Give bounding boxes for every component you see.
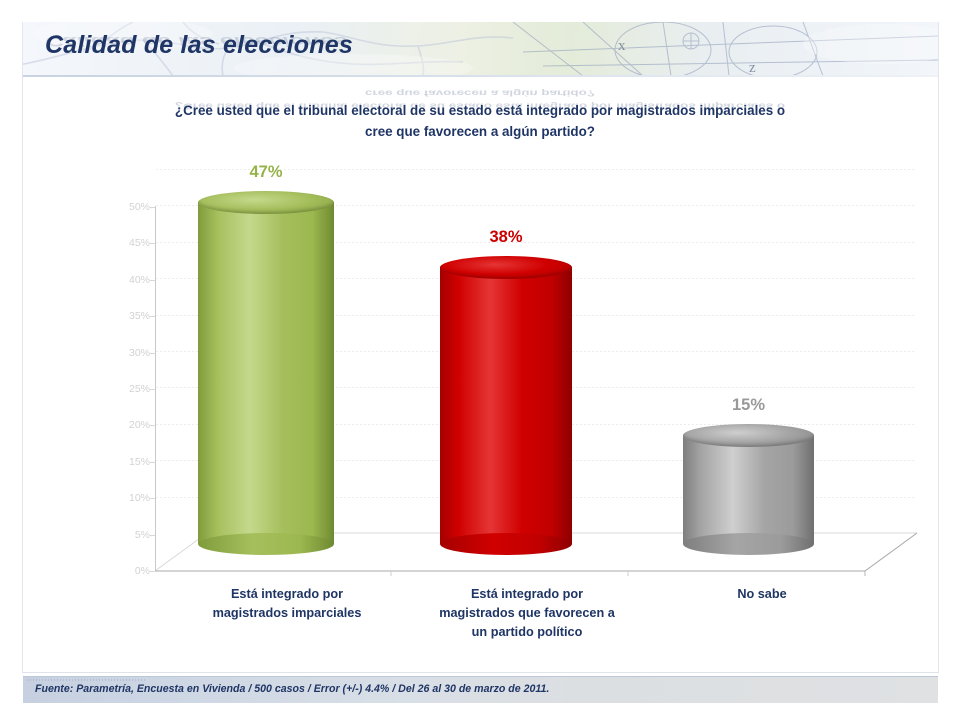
x-axis-category-label: Está integrado pormagistrados que favore… [407, 585, 647, 642]
category-label-line: Está integrado por [177, 585, 397, 604]
svg-text:x: x [618, 38, 626, 54]
y-axis-tick [150, 462, 155, 463]
y-axis-label: 30% [104, 348, 150, 358]
y-axis-label: 0% [104, 566, 150, 576]
y-axis-line [155, 206, 156, 571]
x-axis-category-labels: Está integrado pormagistrados imparciale… [22, 585, 938, 655]
category-label-line: magistrados que favorecen a [407, 604, 647, 623]
y-axis-tick [150, 389, 155, 390]
y-axis-tick [150, 207, 155, 208]
category-label-line: un partido político [407, 623, 647, 642]
chart-data-label: 38% [440, 228, 572, 247]
chart-bar-body [683, 435, 814, 544]
y-axis-tick [150, 243, 155, 244]
y-axis-tick [150, 425, 155, 426]
y-axis-label: 40% [104, 275, 150, 285]
y-axis-tick [150, 353, 155, 354]
slide-border-right [938, 22, 939, 672]
y-axis-label: 50% [104, 202, 150, 212]
chart-bar-body [440, 267, 572, 544]
source-note: Fuente: Parametría, Encuesta en Vivienda… [35, 683, 549, 695]
y-axis-label: 5% [104, 530, 150, 540]
chart-question: ¿Cree usted que el tribunal electoral de… [110, 100, 850, 142]
slide-footer: Fuente: Parametría, Encuesta en Vivienda… [23, 676, 938, 703]
y-axis-labels: 50%45%40%35%30%25%20%15%10%5%0% [100, 160, 150, 580]
chart-bar[interactable] [683, 424, 814, 555]
chart-bar-top [683, 424, 814, 447]
y-axis-label: 15% [104, 457, 150, 467]
y-axis-label: 35% [104, 311, 150, 321]
y-axis-label: 20% [104, 420, 150, 430]
x-axis-category-label: No sabe [667, 585, 857, 604]
chart-bar[interactable] [440, 256, 572, 555]
chart-bar-base [683, 533, 814, 555]
chart-question-line2: cree que favorecen a algún partido? [110, 121, 850, 142]
chart-bar-body [198, 202, 334, 544]
x-axis-category-label: Está integrado pormagistrados imparciale… [177, 585, 397, 623]
slide: x z Calidad de las elecciones Calidad de… [0, 0, 961, 721]
y-axis-tick [150, 280, 155, 281]
chart-bar-base [440, 533, 572, 555]
chart-bar[interactable] [198, 191, 334, 555]
category-label-line: No sabe [667, 585, 857, 604]
slide-border-bottom [22, 672, 939, 673]
category-label-line: magistrados imparciales [177, 604, 397, 623]
chart-bar-top [198, 191, 334, 214]
footer-dotted-accent [27, 679, 147, 681]
chart-question-reflection-line2: cree que favorecen a algún partido? [110, 87, 850, 100]
header-underline [23, 75, 938, 77]
y-axis-label: 25% [104, 384, 150, 394]
chart-question-line1: ¿Cree usted que el tribunal electoral de… [110, 100, 850, 121]
chart-data-label: 15% [683, 396, 814, 415]
y-axis-label: 45% [104, 238, 150, 248]
y-axis-label: 10% [104, 493, 150, 503]
svg-text:z: z [749, 60, 756, 76]
y-axis-tick [150, 498, 155, 499]
y-axis-tick [150, 316, 155, 317]
chart-data-label: 47% [198, 163, 334, 182]
page-title: Calidad de las elecciones [45, 31, 353, 60]
category-label-line: Está integrado por [407, 585, 647, 604]
chart-bar-base [198, 533, 334, 555]
